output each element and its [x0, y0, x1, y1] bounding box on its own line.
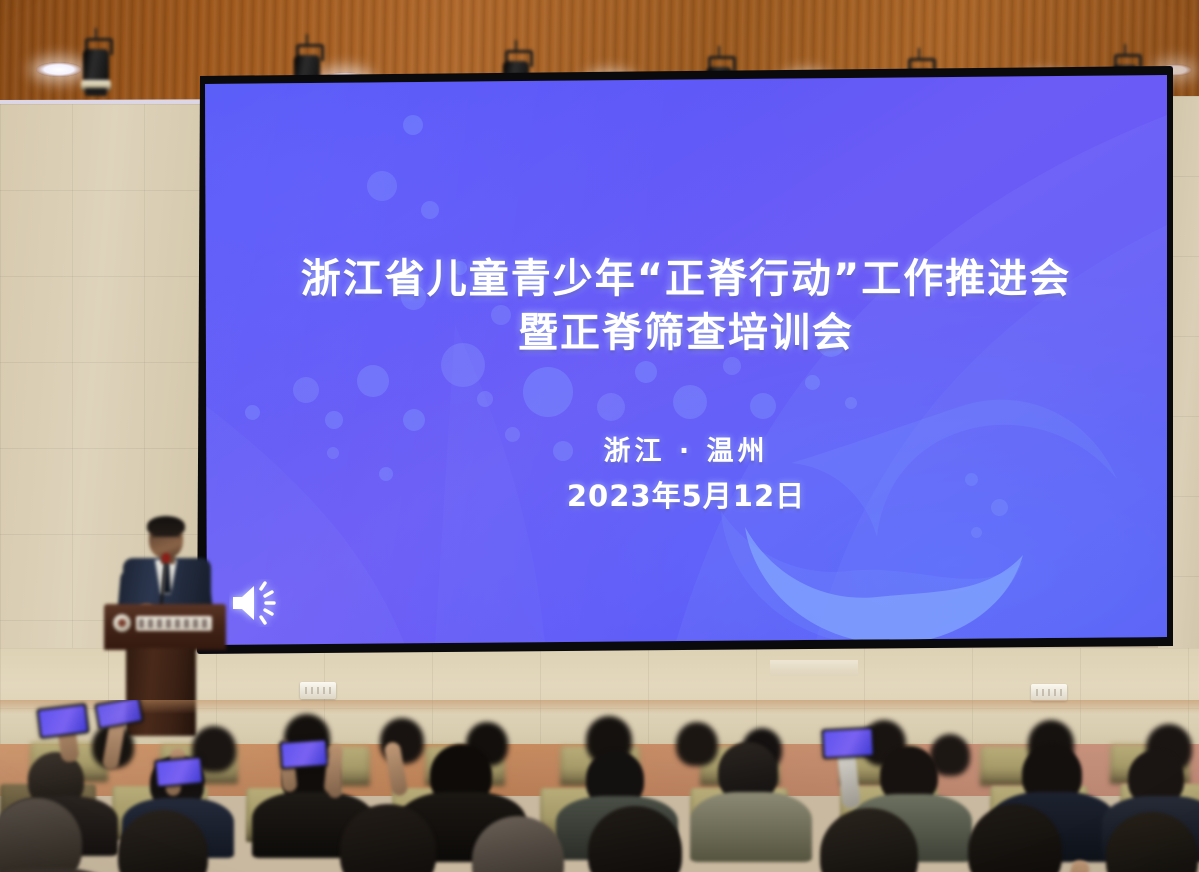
phone-recording [94, 700, 144, 730]
conference-photo: 浙江省儿童青少年“正脊行动”工作推进会 暨正脊筛查培训会 浙江 · 温州 202… [0, 0, 1199, 872]
audience-shoulders [690, 792, 812, 862]
phone-recording [279, 738, 329, 769]
audience-shoulders [0, 868, 120, 872]
podium-nameplate [136, 616, 212, 631]
podium-top [104, 604, 226, 650]
presenter-hair [147, 516, 185, 536]
audience-head [676, 722, 718, 766]
wall-outlet [300, 682, 336, 699]
audience-area [0, 700, 1199, 872]
wall-panel [770, 660, 858, 676]
wall-outlet [1031, 684, 1067, 701]
institution-emblem [113, 614, 131, 632]
speaker-volume-icon[interactable] [229, 579, 281, 627]
presenter-glasses [152, 535, 180, 544]
phone-recording [36, 703, 89, 739]
ceiling-downlight [36, 62, 82, 77]
phone-recording [821, 727, 874, 760]
led-presentation-screen[interactable]: 浙江省儿童青少年“正脊行动”工作推进会 暨正脊筛查培训会 浙江 · 温州 202… [205, 75, 1167, 645]
phone-recording [154, 756, 204, 788]
decor-swoosh-ribbon [205, 75, 1167, 645]
